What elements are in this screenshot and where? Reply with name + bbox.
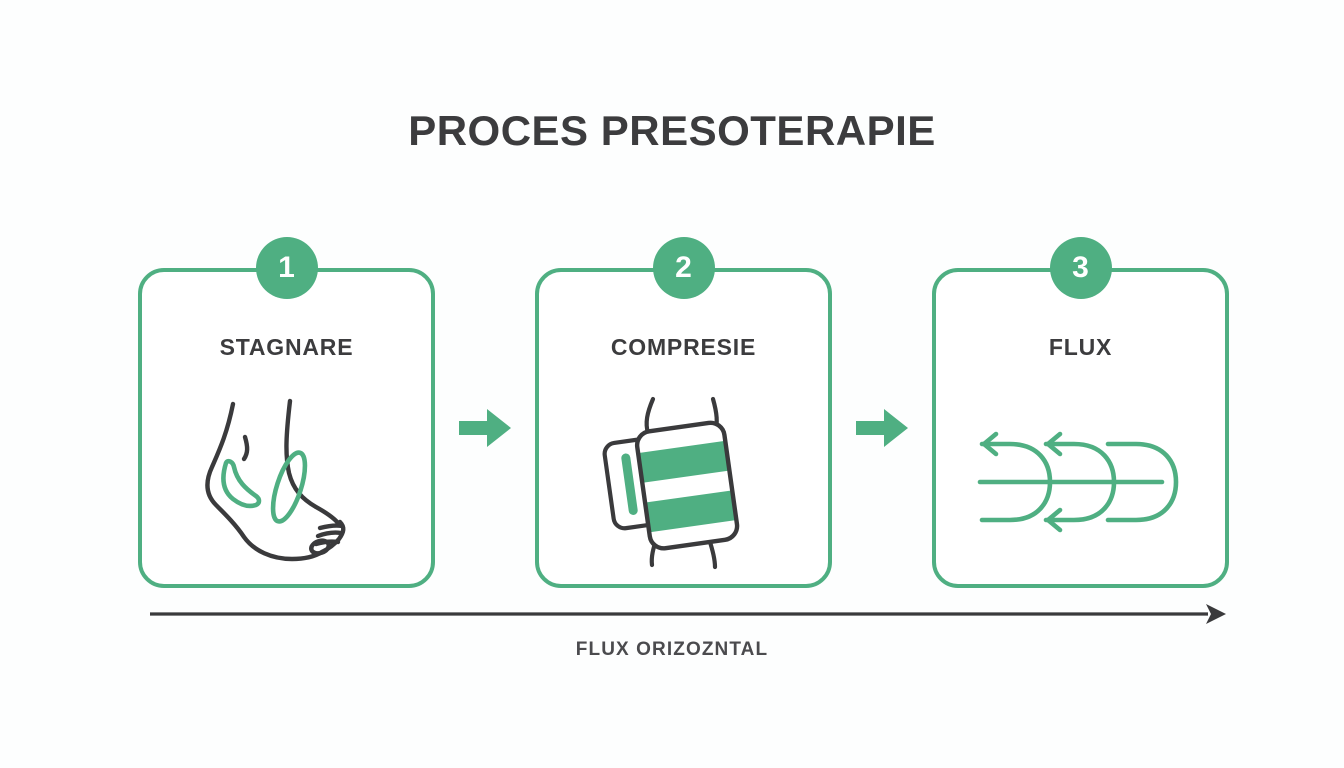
compression-cuff-icon <box>591 389 776 574</box>
step-label-2: COMPRESIE <box>539 334 828 361</box>
step-label-1: STAGNARE <box>142 334 431 361</box>
step-card-1[interactable]: 1 STAGNARE <box>138 268 435 588</box>
process-steps-row: 1 STAGNARE <box>138 268 1223 588</box>
step-icon-container-2 <box>539 384 828 579</box>
horizontal-flow-arrow <box>150 600 1228 628</box>
step-card-3[interactable]: 3 FLUX <box>932 268 1229 588</box>
circulation-flow-icon <box>966 422 1196 542</box>
page-title: PROCES PRESOTERAPIE <box>0 107 1344 155</box>
step-number-badge-1: 1 <box>256 237 318 299</box>
infographic-root: PROCES PRESOTERAPIE 1 STAGNARE <box>0 0 1344 768</box>
foot-stagnation-icon <box>192 389 382 574</box>
step-number-badge-3: 3 <box>1050 237 1112 299</box>
flow-caption: FLUX ORIZOZNTAL <box>0 639 1344 661</box>
step-number-badge-2: 2 <box>653 237 715 299</box>
flow-axis <box>150 600 1228 628</box>
connector-2 <box>832 268 932 588</box>
step-card-2[interactable]: 2 COMPRESIE <box>535 268 832 588</box>
arrow-right-icon <box>457 406 513 450</box>
connector-1 <box>435 268 535 588</box>
step-label-3: FLUX <box>936 334 1225 361</box>
step-icon-container-1 <box>142 384 431 579</box>
arrow-right-icon <box>854 406 910 450</box>
step-icon-container-3 <box>936 384 1225 579</box>
